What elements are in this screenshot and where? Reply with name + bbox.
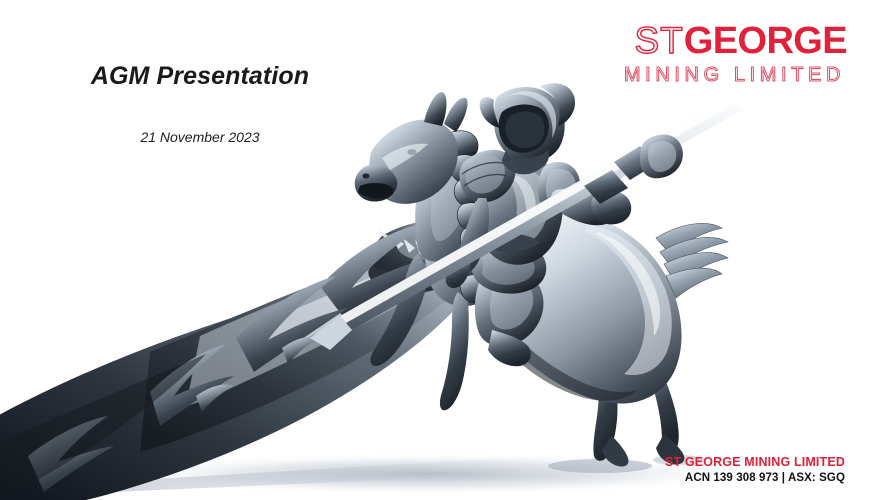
presentation-date: 21 November 2023 [0, 129, 400, 145]
horse-mane [446, 131, 494, 303]
dragon-figure [0, 220, 492, 500]
logo-wordmark: STGEORGE [624, 22, 847, 60]
horse-tail [656, 223, 728, 298]
company-logo: STGEORGE MINING LIMITED [624, 22, 847, 86]
page-title: AGM Presentation [0, 62, 400, 91]
logo-subtitle: MINING LIMITED [624, 64, 847, 86]
title-block: AGM Presentation 21 November 2023 [0, 62, 400, 145]
slide-footer: ST GEORGE MINING LIMITED ACN 139 308 973… [665, 454, 845, 486]
knight-figure [446, 83, 632, 366]
logo-word-st: ST [635, 20, 684, 61]
presentation-slide: AGM Presentation 21 November 2023 STGEOR… [0, 0, 887, 500]
horse-figure [355, 92, 728, 467]
footer-company-details: ACN 139 308 973 | ASX: SGQ [665, 471, 845, 486]
footer-company-name: ST GEORGE MINING LIMITED [665, 454, 845, 470]
logo-word-george: GEORGE [684, 20, 847, 62]
ground-shadow [0, 453, 760, 497]
dragon-spines [28, 222, 492, 492]
